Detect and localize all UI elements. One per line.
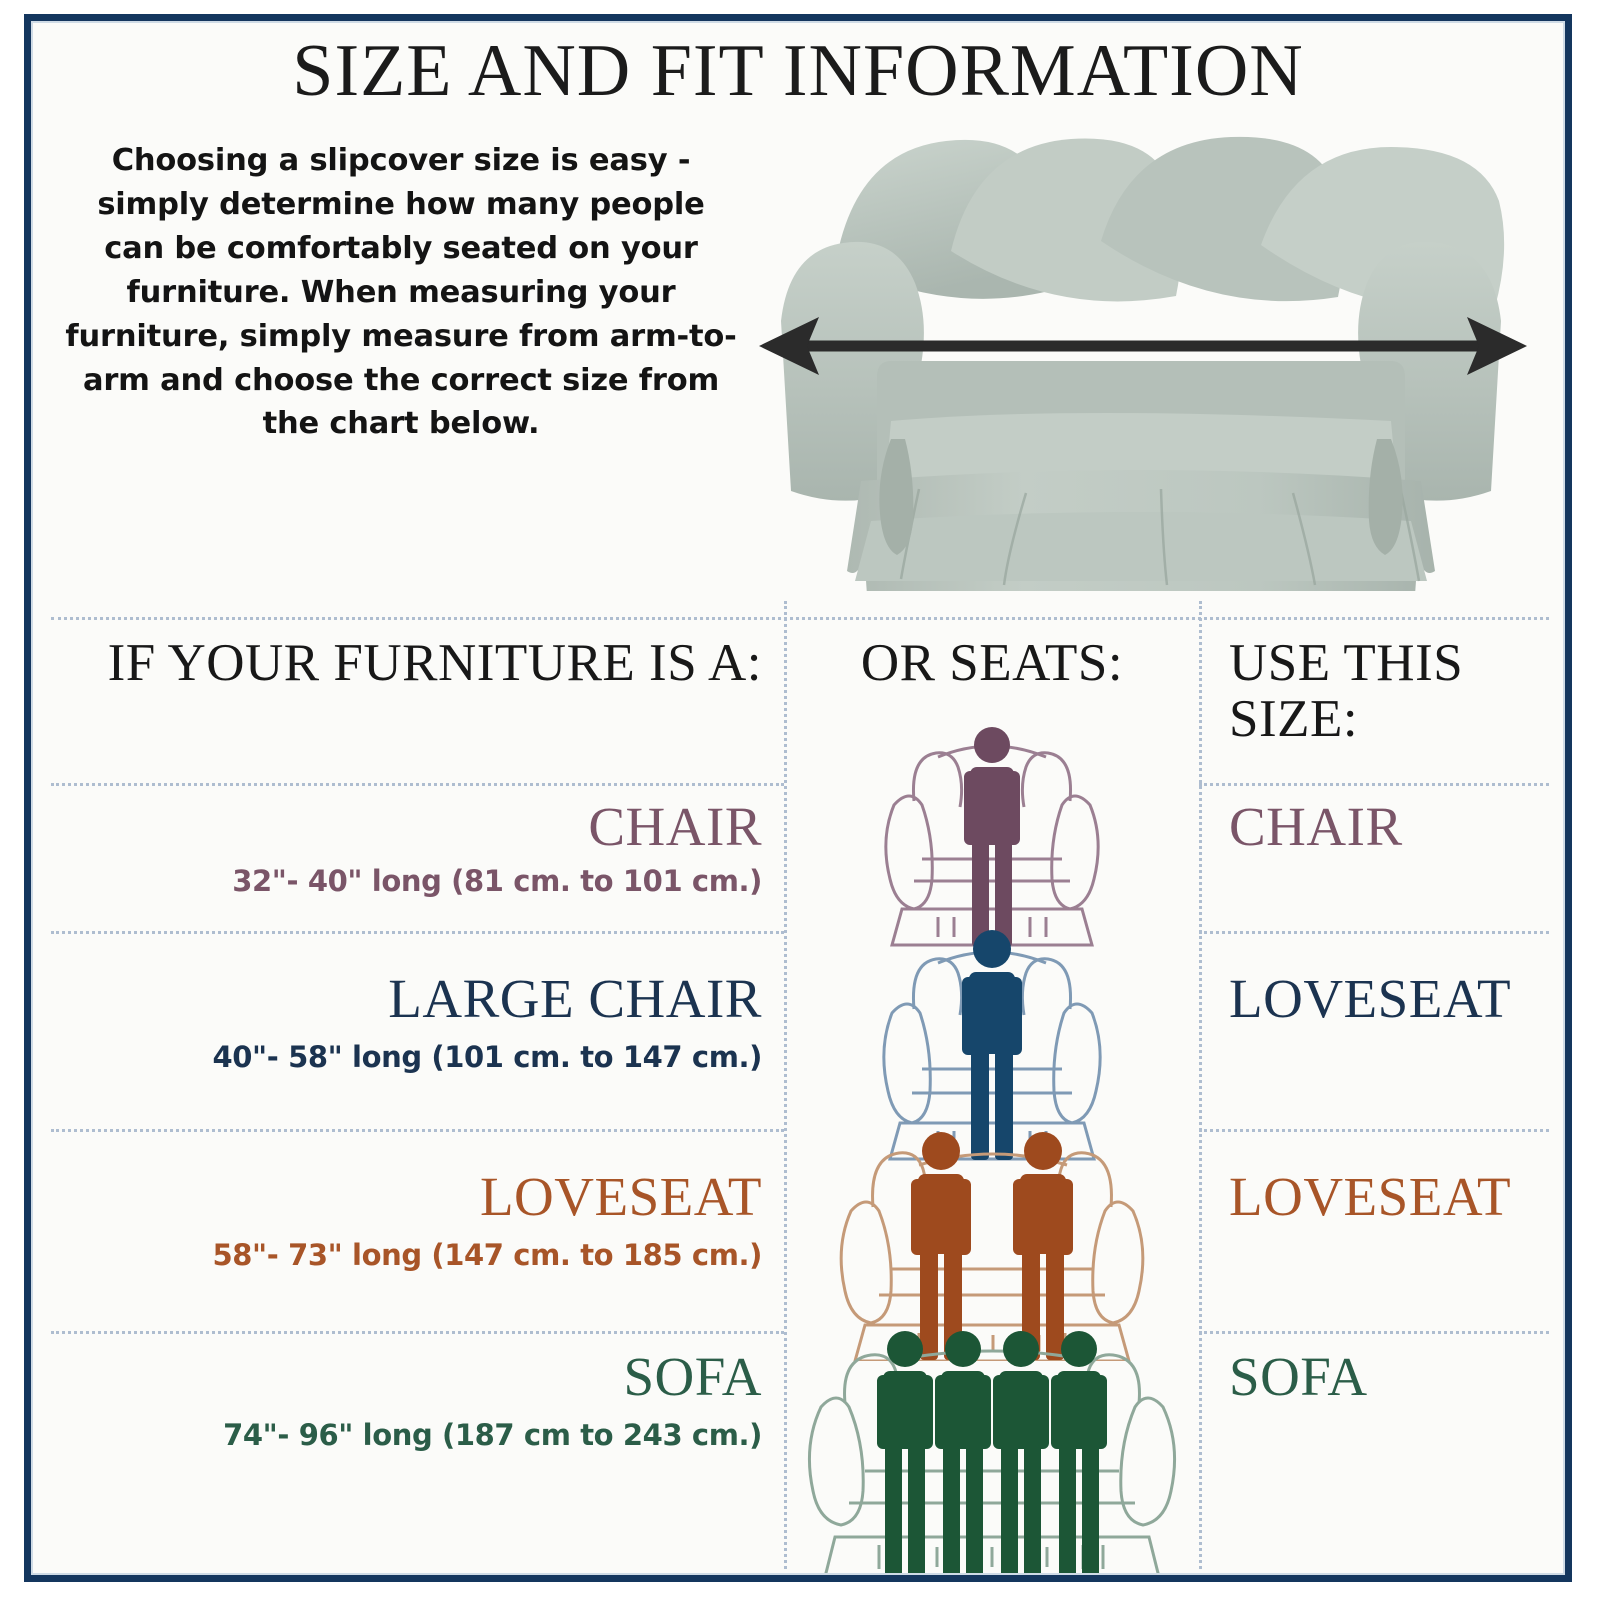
row-1-furniture: CHAIR: [51, 799, 784, 854]
grid-hline-r3-right: [1199, 1129, 1549, 1132]
grid-hline-top: [51, 617, 1549, 620]
intro-paragraph: Choosing a slipcover size is easy - simp…: [65, 139, 737, 446]
grid-vline-2: [1199, 601, 1202, 1569]
row-1-dimensions: 32"- 40" long (81 cm. to 101 cm.): [51, 867, 784, 896]
slipcovered-sofa-photo: [741, 121, 1541, 591]
grid-hline-r2-left: [51, 931, 784, 934]
header-seats: OR SEATS:: [787, 635, 1197, 691]
header-use-size: USE THIS SIZE:: [1203, 635, 1549, 747]
person-figure: [877, 1331, 933, 1577]
grid-hline-r3-left: [51, 1129, 784, 1132]
grid-hline-r1-right: [1199, 783, 1549, 786]
grid-hline-r2-right: [1199, 931, 1549, 934]
header-furniture: IF YOUR FURNITURE IS A:: [51, 635, 784, 691]
size-chart-table: IF YOUR FURNITURE IS A: OR SEATS: USE TH…: [51, 601, 1549, 1569]
row-4-use-size: SOFA: [1203, 1349, 1549, 1404]
page-title: SIZE AND FIT INFORMATION: [31, 29, 1565, 114]
sofa-four-people-icon: [787, 1313, 1197, 1582]
row-4-dimensions: 74"- 96" long (187 cm to 243 cm.): [51, 1421, 784, 1450]
person-figure: [935, 1331, 991, 1577]
row-3-furniture: LOVESEAT: [51, 1169, 784, 1224]
row-4-seat-icon-cell: [787, 1313, 1197, 1582]
row-3-dimensions: 58"- 73" long (147 cm. to 185 cm.): [51, 1241, 784, 1270]
row-1-use-size: CHAIR: [1203, 799, 1549, 854]
grid-hline-r4-left: [51, 1331, 784, 1334]
person-figure: [993, 1331, 1049, 1577]
grid-hline-r1-left: [51, 783, 784, 786]
row-3-use-size: LOVESEAT: [1203, 1169, 1549, 1224]
row-4-furniture: SOFA: [51, 1349, 784, 1404]
size-and-fit-card: SIZE AND FIT INFORMATION Choosing a slip…: [24, 14, 1572, 1582]
row-2-use-size: LOVESEAT: [1203, 971, 1549, 1026]
grid-hline-r4-right: [1199, 1331, 1549, 1334]
row-2-dimensions: 40"- 58" long (101 cm. to 147 cm.): [51, 1043, 784, 1072]
row-2-furniture: LARGE CHAIR: [51, 971, 784, 1026]
person-figure: [1051, 1331, 1107, 1577]
